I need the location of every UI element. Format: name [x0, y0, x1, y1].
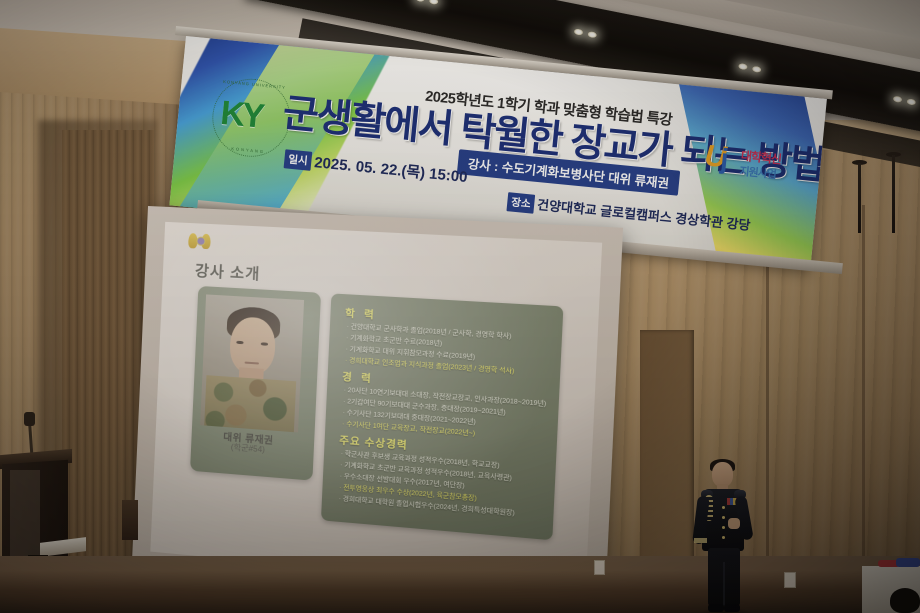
logo-line2: 지원사업 [739, 163, 777, 182]
wall-panel-seam [862, 205, 865, 565]
power-outlet [784, 572, 796, 588]
spotlight [415, 0, 425, 2]
wall-mounted-box [122, 500, 138, 540]
uniform-button [722, 536, 725, 539]
person-hand [728, 518, 740, 529]
floor-reflection [0, 556, 920, 613]
projection-screen: 강사 소개 대위 류재권 (학군#54) 학 력 건양대학교 군사학과 졸업(2… [131, 206, 623, 613]
banner-date-tag: 일시 [284, 149, 313, 171]
spotlight [587, 31, 597, 39]
speaker-person [686, 462, 760, 613]
banner-date: 2025. 05. 22.(목) 15:00 [313, 151, 468, 187]
spotlight [893, 95, 903, 103]
banner-place-tag: 장소 [506, 192, 535, 214]
table-item-dark [890, 588, 920, 613]
table-item-blue [896, 558, 920, 567]
uniform-button [722, 506, 725, 509]
ceiling-drop-pole [892, 155, 895, 233]
spotlight [574, 28, 584, 36]
spotlight [752, 66, 762, 74]
ceiling-drop-pole [858, 163, 861, 233]
logo-mark: KY [219, 94, 264, 137]
spotlight [906, 98, 916, 106]
person-leg-split [723, 562, 725, 606]
person-shoe-left [708, 604, 724, 612]
spotlight [429, 0, 439, 5]
uniform-button [722, 526, 725, 529]
person-cuff-braid [694, 538, 707, 543]
uniform-button [722, 516, 725, 519]
logo-glyph-j: j [719, 143, 730, 176]
konyang-university-logo: KONYANG UNIVERSITY KY KONYANG [209, 75, 294, 160]
microphone-icon [24, 412, 35, 426]
spotlight [738, 63, 748, 71]
projected-slide: 강사 소개 대위 류재권 (학군#54) 학 력 건양대학교 군사학과 졸업(2… [150, 222, 602, 592]
lecture-hall-photo: KONYANG UNIVERSITY KY KONYANG 2025학년도 1학… [0, 0, 920, 613]
person-shoe-right [724, 604, 740, 612]
innovation-program-logo: U j 대학혁신 지원사업 [700, 135, 804, 193]
power-outlet [594, 560, 605, 575]
screen-glare [150, 222, 602, 592]
